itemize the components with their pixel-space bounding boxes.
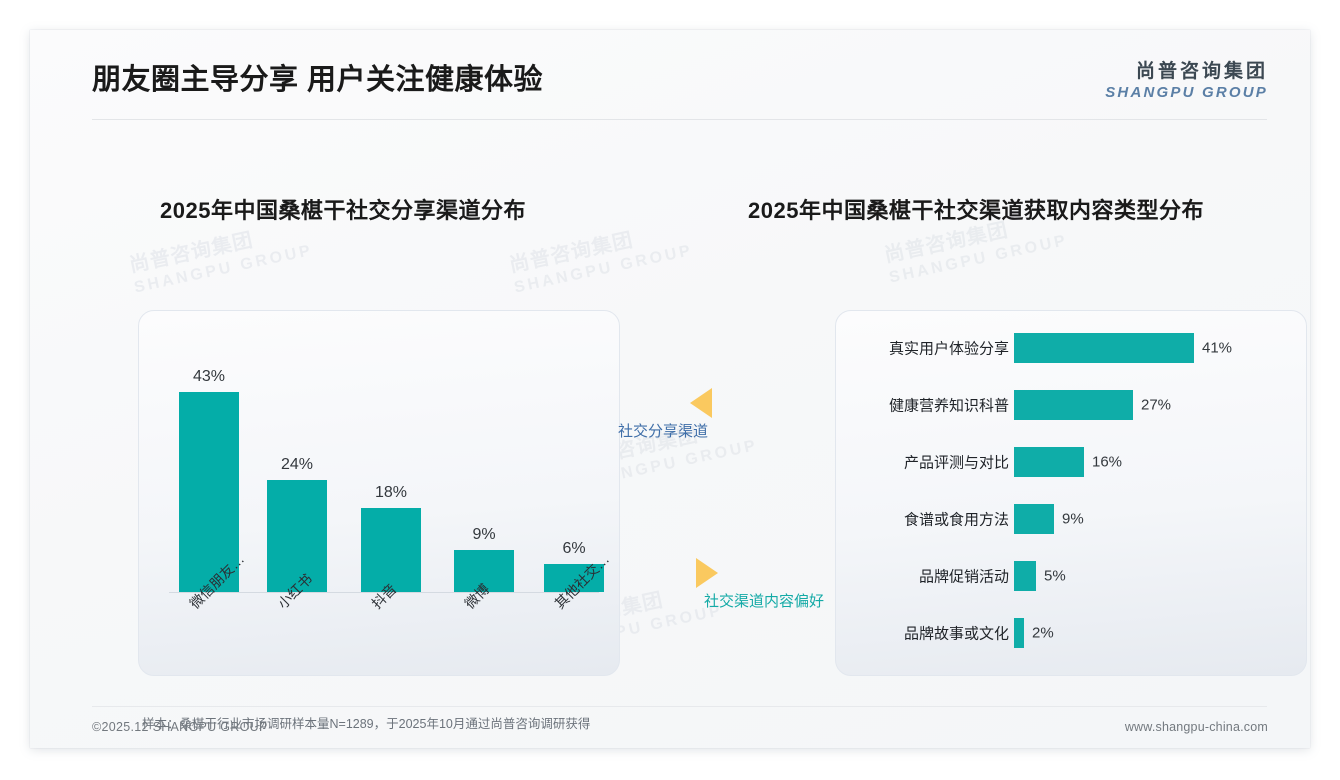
bar-category-label: 产品评测与对比 (904, 452, 1009, 473)
chart-title-right: 2025年中国桑椹干社交渠道获取内容类型分布 (748, 193, 1204, 225)
bar-category-label: 品牌故事或文化 (904, 623, 1009, 644)
bar-row: 产品评测与对比 16% (836, 445, 1306, 479)
bar-row: 品牌促销活动 5% (836, 559, 1306, 593)
bar[interactable] (361, 508, 421, 592)
bar-value-label: 5% (1044, 568, 1066, 585)
footer-divider (92, 706, 1267, 707)
annotation-social-share-channel: 社交分享渠道 (618, 388, 712, 441)
slide-header: 朋友圈主导分享 用户关注健康体验 尚普咨询集团 SHANGPU GROUP (30, 30, 1310, 119)
bar[interactable] (1014, 390, 1133, 420)
bar-value-label: 18% (361, 484, 421, 502)
chart-panel-left: 43% 微信朋友… 24% 小红书 18% 抖音 9% 微博 6% (138, 310, 620, 676)
logo-text-cn: 尚普咨询集团 (1105, 56, 1268, 83)
triangle-right-icon (696, 558, 718, 588)
bar-row: 食谱或食用方法 9% (836, 502, 1306, 536)
bar-row: 品牌故事或文化 2% (836, 616, 1306, 650)
watermark: 尚普咨询集团 SHANGPU GROUP (127, 217, 315, 299)
bar-value-label: 27% (1141, 397, 1171, 414)
copyright-text: ©2025.12 SHANGPU GROUP (92, 720, 268, 734)
website-link[interactable]: www.shangpu-china.com (1125, 720, 1268, 734)
bar-row: 真实用户体验分享 41% (836, 331, 1306, 365)
bar-row: 健康营养知识科普 27% (836, 388, 1306, 422)
horizontal-bar-chart: 真实用户体验分享 41% 健康营养知识科普 27% 产品评测与对比 16% 食谱… (836, 311, 1306, 675)
header-divider (92, 119, 1267, 120)
chart-title-left: 2025年中国桑椹干社交分享渠道分布 (160, 193, 526, 225)
annotation-content-preference: 社交渠道内容偏好 (690, 558, 824, 611)
bar[interactable] (1014, 561, 1036, 591)
page-title: 朋友圈主导分享 用户关注健康体验 (92, 56, 543, 98)
slide-footer: ©2025.12 SHANGPU GROUP www.shangpu-china… (30, 720, 1310, 748)
slide-canvas: 尚普咨询集团 SHANGPU GROUP 尚普咨询集团 SHANGPU GROU… (30, 30, 1310, 748)
brand-logo: 尚普咨询集团 SHANGPU GROUP (1105, 56, 1268, 101)
bar-category-label: 食谱或食用方法 (904, 509, 1009, 530)
bar[interactable] (1014, 333, 1194, 363)
annotation-label: 社交分享渠道 (618, 420, 712, 441)
bar-value-label: 41% (1202, 340, 1232, 357)
bar-category-label: 健康营养知识科普 (889, 395, 1009, 416)
bar[interactable] (1014, 504, 1054, 534)
chart-panel-right: 真实用户体验分享 41% 健康营养知识科普 27% 产品评测与对比 16% 食谱… (835, 310, 1307, 676)
bar-value-label: 16% (1092, 454, 1122, 471)
logo-text-en: SHANGPU GROUP (1105, 84, 1268, 101)
vertical-bar-chart: 43% 微信朋友… 24% 小红书 18% 抖音 9% 微博 6% (139, 311, 619, 675)
bar[interactable] (1014, 618, 1024, 648)
bar-value-label: 9% (454, 526, 514, 544)
bar-value-label: 24% (267, 456, 327, 474)
bar-value-label: 2% (1032, 625, 1054, 642)
bar-value-label: 9% (1062, 511, 1084, 528)
bar-category-label: 真实用户体验分享 (889, 338, 1009, 359)
triangle-left-icon (690, 388, 712, 418)
annotation-label: 社交渠道内容偏好 (704, 590, 824, 611)
bar[interactable] (1014, 447, 1084, 477)
bar-value-label: 43% (179, 368, 239, 386)
watermark: 尚普咨询集团 SHANGPU GROUP (507, 217, 695, 299)
bar-category-label: 品牌促销活动 (919, 566, 1009, 587)
